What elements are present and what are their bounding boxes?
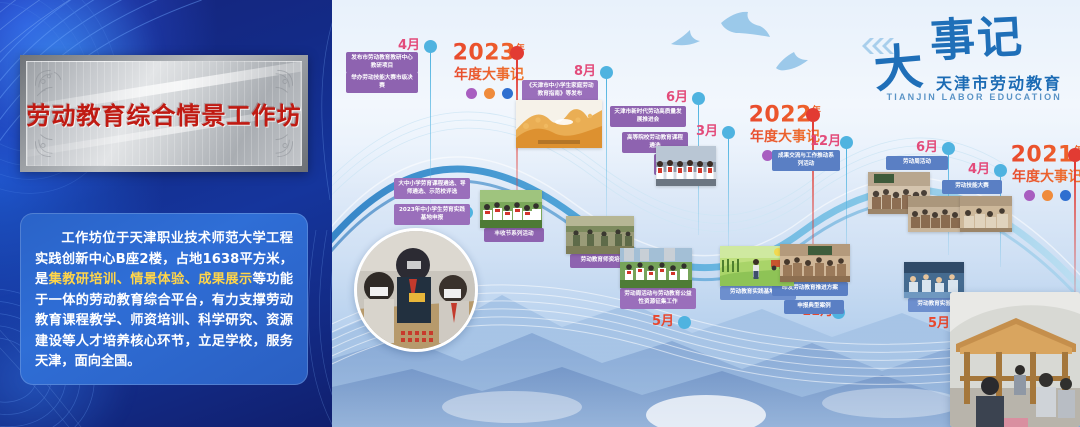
left-panel: 劳动教育综合情景工作坊 工作坊位于天津职业技术师范大学工程实践创新中心B座2楼，… bbox=[0, 0, 332, 427]
brand-subtitle-en: TIANJIN LABOR EDUCATION bbox=[887, 92, 1062, 102]
poster-root: 劳动教育综合情景工作坊 工作坊位于天津职业技术师范大学工程实践创新中心B座2楼，… bbox=[0, 0, 1080, 427]
month-label-2021-05: 5月 bbox=[928, 312, 950, 331]
corner-ornament-icon bbox=[32, 126, 66, 160]
photo-labor-week bbox=[908, 196, 962, 232]
month-label-2021-06: 6月 bbox=[916, 136, 938, 155]
month-label-2022-05: 5月 bbox=[652, 310, 674, 329]
month-label-2022-03: 3月 bbox=[696, 120, 718, 139]
event-chip-e8[interactable]: 劳动周活动 bbox=[886, 156, 948, 170]
event-chip-e9[interactable]: 劳动技能大赛 bbox=[942, 180, 1002, 194]
corner-ornament-icon bbox=[262, 126, 296, 160]
event-chip-e2[interactable]: 举办劳动技能大赛市级决赛 bbox=[346, 72, 418, 93]
brand-lockup: 大 事记 天津市劳动教育 TIANJIN LABOR EDUCATION bbox=[852, 14, 1064, 114]
bird-icon bbox=[670, 28, 710, 50]
photo-policy-meeting bbox=[780, 244, 850, 282]
intro-card: 工作坊位于天津职业技术师范大学工程实践创新中心B座2楼，占地1638平方米，是集… bbox=[20, 213, 308, 385]
event-chip-e14[interactable]: 劳动周活动与劳动教育公益性资源征集工作 bbox=[620, 288, 696, 309]
photo-labor-week-resources bbox=[620, 248, 692, 288]
pin-2022-03 bbox=[722, 126, 735, 249]
plaque-inner: 劳动教育综合情景工作坊 bbox=[26, 61, 302, 166]
photo-circle-handcraft bbox=[354, 228, 478, 352]
month-label-2023-06: 6月 bbox=[666, 86, 688, 105]
intro-text: 工作坊位于天津职业技术师范大学工程实践创新中心B座2楼，占地1638平方米，是集… bbox=[35, 229, 293, 373]
bird-icon bbox=[720, 11, 772, 41]
event-chip-e17[interactable]: 申报典型案例 bbox=[784, 300, 844, 314]
pin-2022-05 bbox=[678, 316, 691, 329]
event-chip-e4[interactable]: 天津市新时代劳动高质量发展推进会 bbox=[610, 106, 686, 127]
event-chip-e12[interactable]: 丰收节系列活动 bbox=[484, 228, 544, 242]
photo-workshop-pavilion bbox=[950, 292, 1080, 427]
brand-char-big: 大 bbox=[872, 42, 925, 95]
event-chip-e1[interactable]: 发布市劳动教育教研中心教研项目 bbox=[346, 52, 418, 73]
photo-skill-contest bbox=[960, 196, 1012, 232]
photo-harvest-festival bbox=[480, 190, 542, 228]
photo-harvest-publication bbox=[516, 100, 602, 148]
brand-subtitle-cn: 天津市劳动教育 bbox=[936, 70, 1062, 94]
event-chip-e11[interactable]: 2023年中小学生劳育实践基地申报 bbox=[394, 204, 470, 225]
right-panel: 大 事记 天津市劳动教育 TIANJIN LABOR EDUCATION bbox=[332, 0, 1080, 427]
month-label-2023-04: 4月 bbox=[398, 34, 420, 53]
page-title: 劳动教育综合情景工作坊 bbox=[27, 96, 302, 131]
plaque-frame: 劳动教育综合情景工作坊 bbox=[20, 55, 308, 172]
photo-students-group bbox=[656, 146, 716, 186]
bird-icon bbox=[774, 48, 814, 72]
event-chip-e3[interactable]: 《天津市中小学生家庭劳动教育指南》等发布 bbox=[522, 80, 598, 101]
pin-year-2021 bbox=[1068, 148, 1080, 292]
month-label-2021-04: 4月 bbox=[968, 158, 990, 177]
month-label-2023-08: 8月 bbox=[574, 60, 596, 79]
event-chip-e10[interactable]: 大中小学劳育课程遴选、导师遴选、示范校评选 bbox=[394, 178, 470, 199]
pin-2021-12 bbox=[840, 136, 853, 259]
month-label-2021-12: 12月 bbox=[810, 130, 841, 149]
event-chip-e7[interactable]: 成果交流与工作推动系列活动 bbox=[772, 150, 840, 171]
brand-char-rest: 事记 bbox=[929, 14, 1025, 64]
